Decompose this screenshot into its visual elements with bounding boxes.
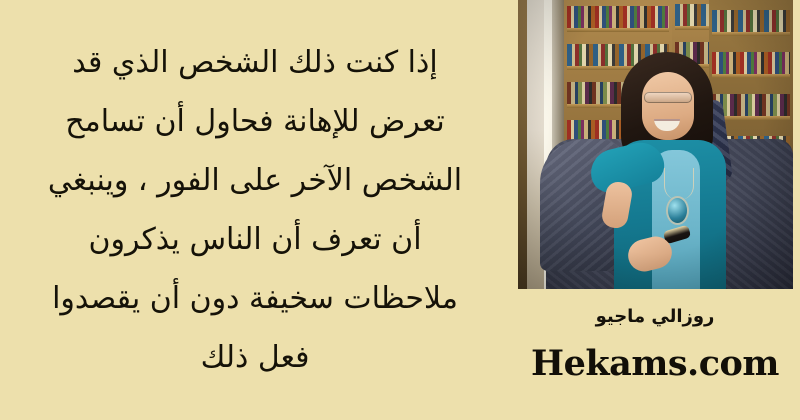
quote-line-5: ملاحظات سخيفة دون أن يقصدوا — [10, 269, 500, 328]
quote-line-3: الشخص الآخر على الفور ، وينبغي — [10, 151, 500, 210]
quote-line-4: أن تعرف أن الناس يذكرون — [10, 210, 500, 269]
glasses-icon — [644, 92, 692, 103]
photo-necklace-pendant — [668, 198, 687, 223]
quote-panel: إذا كنت ذلك الشخص الذي قد تعرض للإهانة ف… — [0, 0, 514, 420]
photo-necklace-chain — [664, 168, 694, 200]
site-branding: Hekams.com — [510, 342, 800, 386]
quote-line-1: إذا كنت ذلك الشخص الذي قد — [10, 33, 500, 92]
author-photo-panel — [518, 0, 793, 289]
photo-book-row — [712, 10, 790, 36]
caption-block: روزالي ماجيو Hekams.com — [510, 296, 800, 386]
photo-book-row — [712, 52, 790, 78]
quote-text: إذا كنت ذلك الشخص الذي قد تعرض للإهانة ف… — [10, 33, 500, 387]
quote-line-6: فعل ذلك — [10, 328, 500, 387]
quote-line-2: تعرض للإهانة فحاول أن تسامح — [10, 92, 500, 151]
photo-book-row — [567, 6, 669, 32]
quote-card: إذا كنت ذلك الشخص الذي قد تعرض للإهانة ف… — [0, 0, 800, 420]
author-photo — [518, 0, 793, 289]
author-name: روزالي ماجيو — [510, 304, 800, 330]
